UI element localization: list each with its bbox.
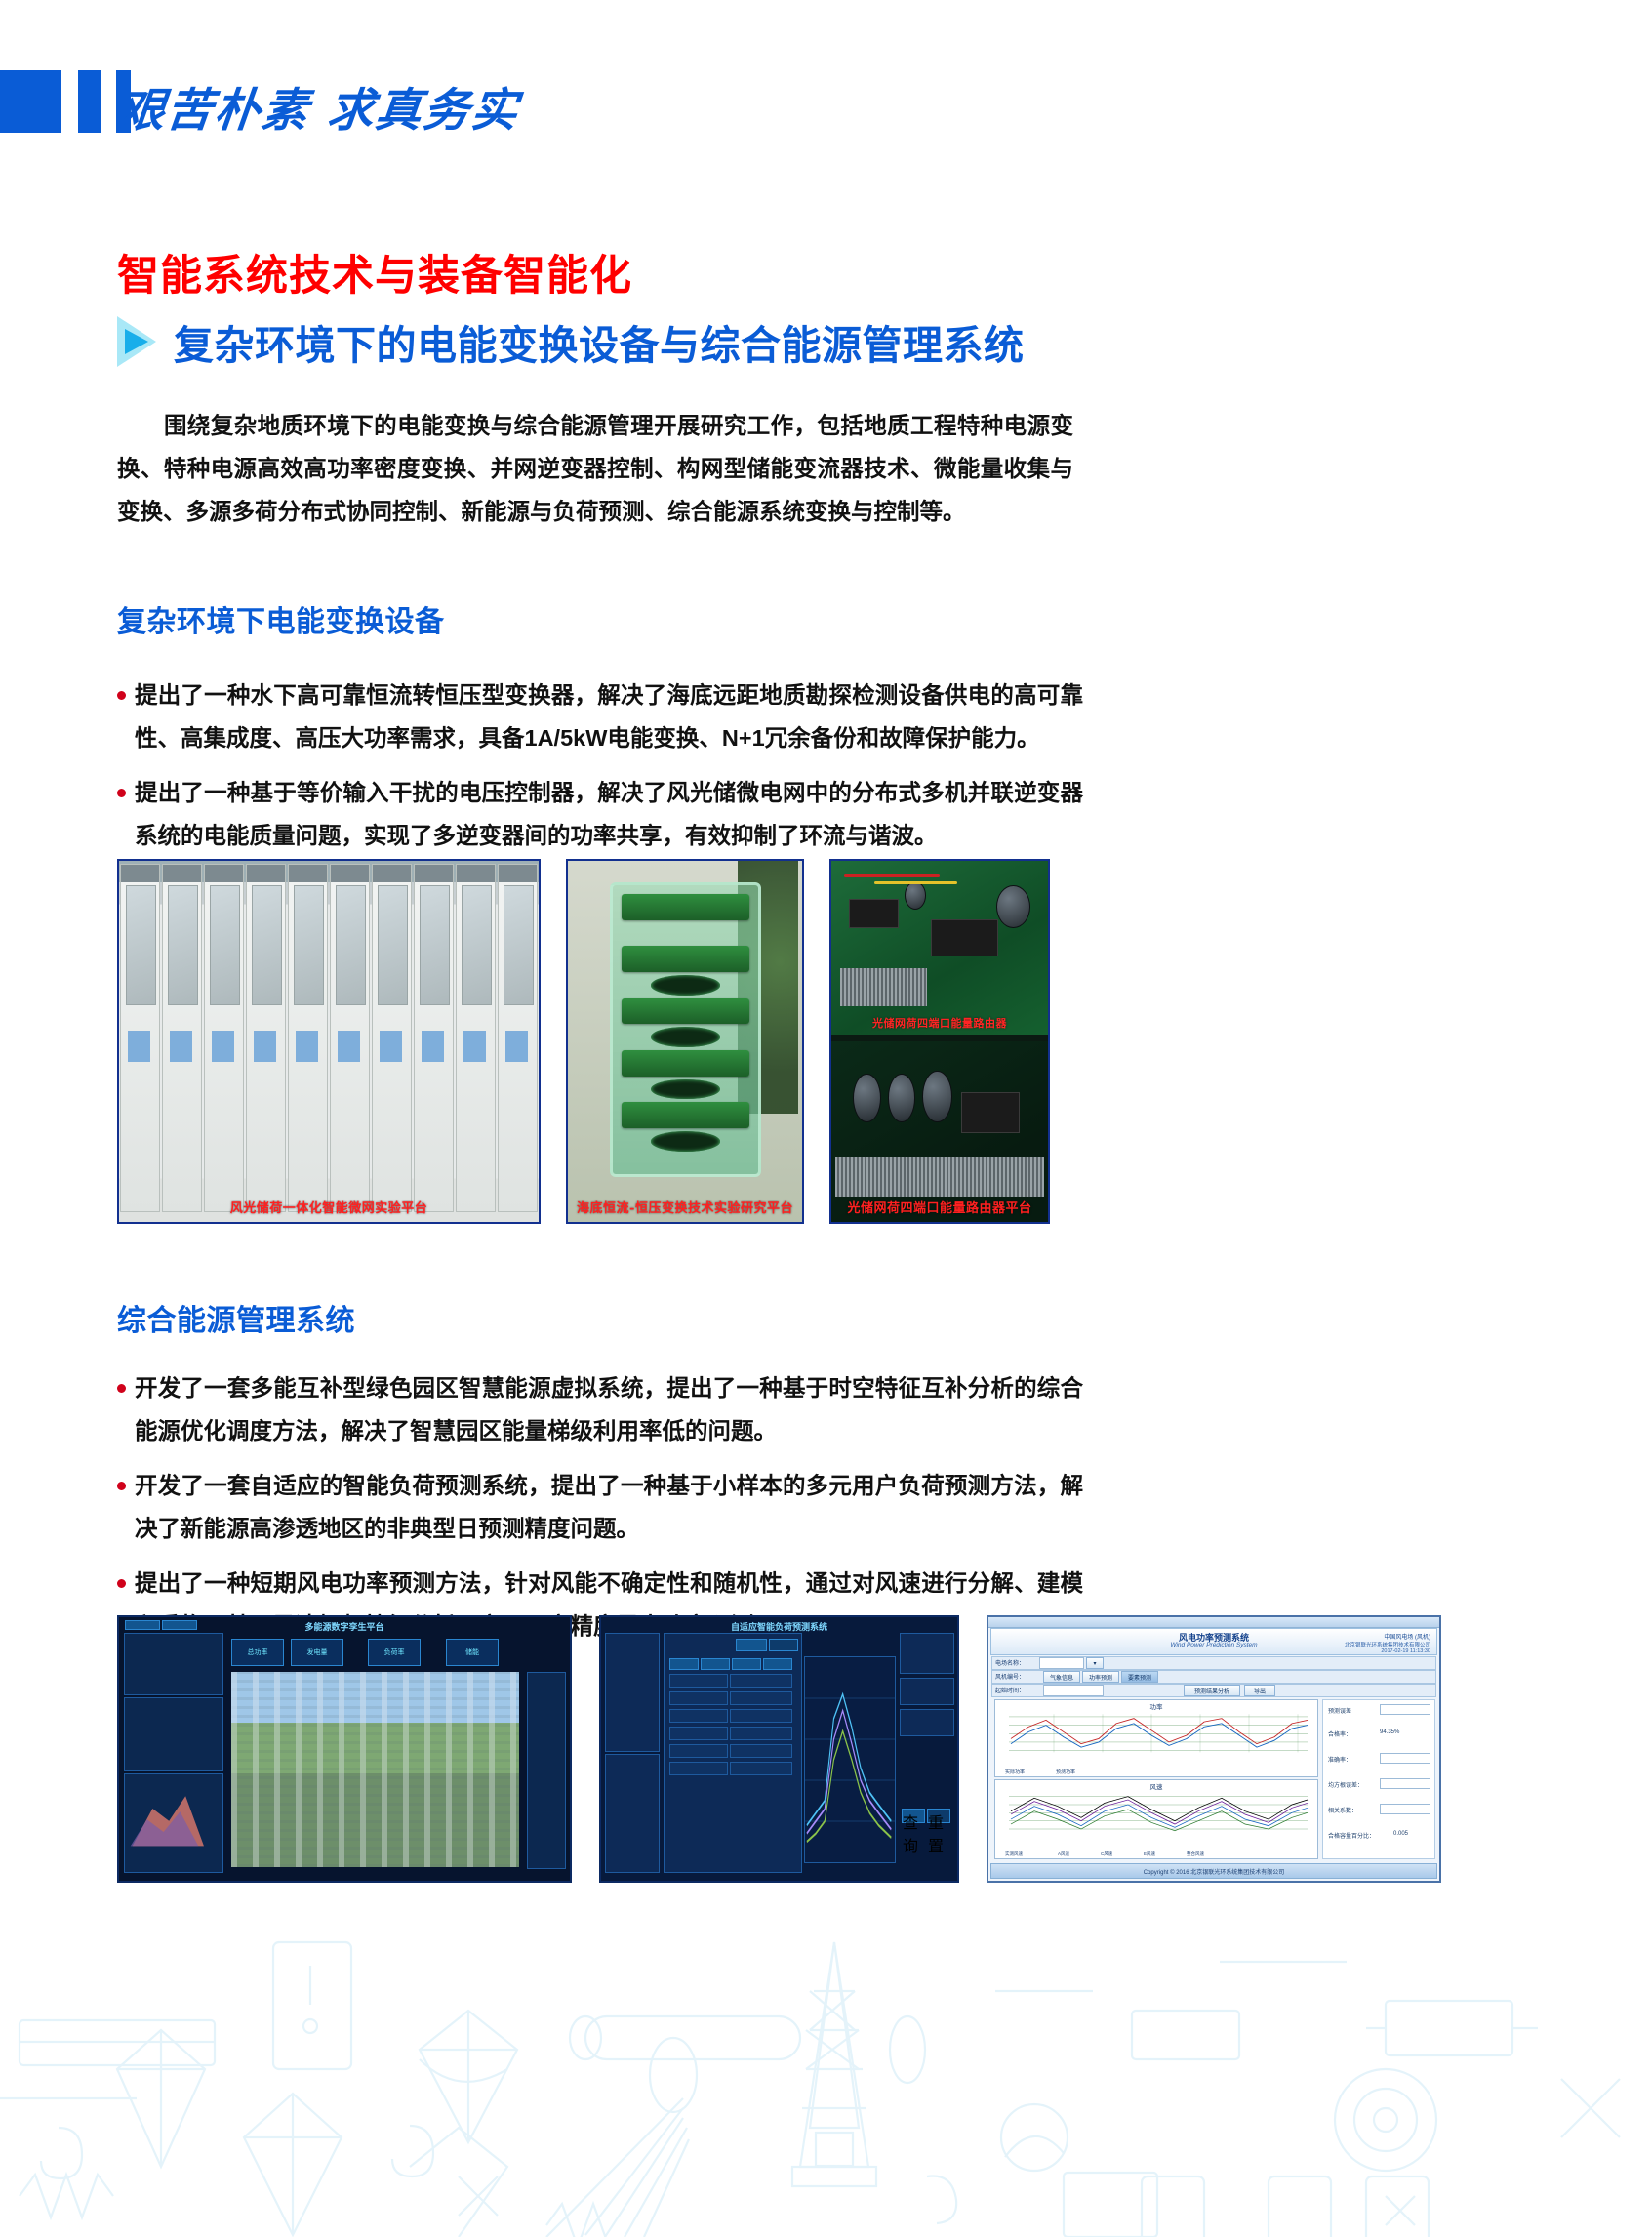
- wind-legend-measured: 实测风速: [1005, 1851, 1023, 1857]
- play-triangle-icon: [117, 316, 160, 367]
- load-forecast-dashboard: 自适应智能负荷预测系统: [601, 1617, 957, 1881]
- photo-caption: 海底恒流-恒压变换技术实验研究平台: [568, 1198, 802, 1216]
- tab-power[interactable]: 功率预测: [1082, 1671, 1119, 1683]
- cabinet-photo-content: [119, 861, 539, 1222]
- window-banner: 风电功率预测系统 Wind Power Prediction System 中国…: [990, 1628, 1437, 1655]
- pcb-photo-bottom: [831, 1041, 1048, 1222]
- location-label: 中国风电场 (风机): [1384, 1632, 1430, 1641]
- metric-value-pass: 94.35%: [1380, 1729, 1399, 1735]
- metric-input-2[interactable]: [1380, 1753, 1430, 1764]
- list-item: 开发了一套自适应的智能负荷预测系统，提出了一种基于小样本的多元用户负荷预测方法，…: [117, 1464, 1083, 1550]
- metric-input-3[interactable]: [1380, 1778, 1430, 1789]
- kpi-card: 储能: [446, 1639, 499, 1666]
- dashboard-title: 自适应智能负荷预测系统: [601, 1620, 957, 1633]
- wind-legend-e: E风速: [1144, 1851, 1155, 1857]
- section-heading-energy-management: 综合能源管理系统: [117, 1296, 355, 1339]
- header-bar-mid: [78, 70, 101, 133]
- metric-label-error: 预测误差: [1328, 1706, 1351, 1715]
- wind-prediction-window: 风电功率预测系统 Wind Power Prediction System 中国…: [988, 1617, 1439, 1881]
- kpi-card: 总功率: [231, 1639, 284, 1666]
- bullet-text: 开发了一套多能互补型绿色园区智慧能源虚拟系统，提出了一种基于时空特征互补分析的综…: [135, 1366, 1083, 1452]
- section-1-bullets: 提出了一种水下高可靠恒流转恒压型变换器，解决了海底远距地质勘探检测设备供电的高可…: [117, 673, 1083, 869]
- metric-label-rmse: 均方根误差：: [1328, 1780, 1363, 1789]
- header-bar-wide: [0, 70, 61, 133]
- mountain-chart: [127, 1785, 219, 1863]
- power-legend-forecast: 预测功率: [1056, 1769, 1075, 1775]
- photo-energy-router-platform: 光储网荷四端口能量路由器 光储网荷四端口能量路由器平台: [829, 859, 1050, 1224]
- photo-row-equipment: 风光储荷一体化智能微网实验平台 海底恒流-恒压变换技术实验研究平台: [117, 859, 1050, 1224]
- metric-label-pass: 合格率：: [1328, 1729, 1351, 1738]
- wind-plot: 风速 实测风速 A风速 C风速 E风速 整合风速: [994, 1779, 1318, 1859]
- screenshot-digital-twin-platform: 多能源数字孪生平台 总功率 发电量 负荷率 储能: [117, 1615, 572, 1883]
- forecast-chart: [804, 1656, 896, 1863]
- export-button[interactable]: 导出: [1244, 1685, 1275, 1696]
- analyze-button[interactable]: 预测结果分析: [1184, 1685, 1240, 1696]
- metric-input-0[interactable]: [1380, 1704, 1430, 1715]
- date-input[interactable]: [1043, 1685, 1104, 1696]
- pcb-photo-top: 光储网荷四端口能量路由器: [831, 861, 1048, 1035]
- pcb-top-caption: 光储网荷四端口能量路由器: [831, 1015, 1048, 1031]
- wind-legend-a: A风速: [1058, 1851, 1069, 1857]
- subtitle-row: 复杂环境下的电能变换设备与综合能源管理系统: [117, 312, 1025, 371]
- farm-dropdown-icon[interactable]: ▾: [1086, 1657, 1104, 1669]
- bullet-text: 提出了一种基于等价输入干扰的电压控制器，解决了风光储微电网中的分布式多机并联逆变…: [135, 771, 1083, 857]
- photo-row-software: 多能源数字孪生平台 总功率 发电量 负荷率 储能 自适应智能负荷预测系统: [117, 1615, 1441, 1883]
- power-plot: 功率 实际功率 预测功率: [994, 1699, 1318, 1777]
- bullet-dot-icon: [117, 1579, 126, 1588]
- background-watermark-illustration: [0, 1932, 1652, 2237]
- tab-chip[interactable]: [736, 1639, 767, 1651]
- bullet-dot-icon: [117, 1384, 126, 1393]
- window-titlebar[interactable]: [988, 1617, 1439, 1628]
- bullet-text: 开发了一套自适应的智能负荷预测系统，提出了一种基于小样本的多元用户负荷预测方法，…: [135, 1464, 1083, 1550]
- timestamp-label: 2017-02-19 11:13:30: [1381, 1648, 1430, 1654]
- metrics-panel: 预测误差 合格率： 94.35% 准确率： 均方根误差： 相关系数： 合格容量百…: [1322, 1699, 1435, 1859]
- aerial-city-photo: [231, 1672, 519, 1867]
- metric-input-4[interactable]: [1380, 1804, 1430, 1814]
- header-motto: 艰苦朴素 求真务实: [115, 72, 523, 140]
- photo-subsea-converter-platform: 海底恒流-恒压变换技术实验研究平台: [566, 859, 804, 1224]
- kpi-card: 发电量: [291, 1639, 343, 1666]
- list-item: 提出了一种水下高可靠恒流转恒压型变换器，解决了海底远距地质勘探检测设备供电的高可…: [117, 673, 1083, 759]
- metric-label-accuracy: 准确率：: [1328, 1755, 1351, 1764]
- list-item: 提出了一种基于等价输入干扰的电压控制器，解决了风光储微电网中的分布式多机并联逆变…: [117, 771, 1083, 857]
- reset-button[interactable]: 重置: [927, 1809, 950, 1823]
- query-button[interactable]: 查询: [902, 1809, 925, 1823]
- subsea-photo-content: [568, 861, 802, 1222]
- page-subtitle-blue: 复杂环境下的电能变换设备与综合能源管理系统: [174, 312, 1025, 371]
- bullet-dot-icon: [117, 691, 126, 700]
- screenshot-load-forecast-system: 自适应智能负荷预测系统: [599, 1615, 959, 1883]
- field-label-turbine: 风机编号：: [995, 1672, 1025, 1681]
- field-label-farm: 电场名称：: [995, 1658, 1025, 1667]
- wind-legend-integrated: 整合风速: [1187, 1851, 1204, 1857]
- station-label: 北京银联光环系统集团技术有限公司: [1345, 1641, 1430, 1648]
- wind-legend-c: C风速: [1101, 1851, 1112, 1857]
- metric-label-corr: 相关系数：: [1328, 1806, 1357, 1814]
- list-item: 开发了一套多能互补型绿色园区智慧能源虚拟系统，提出了一种基于时空特征互补分析的综…: [117, 1366, 1083, 1452]
- photo-caption: 光储网荷四端口能量路由器平台: [831, 1198, 1048, 1216]
- page-title-red: 智能系统技术与装备智能化: [117, 242, 632, 303]
- section-heading-power-conversion: 复杂环境下电能变换设备: [117, 597, 445, 640]
- field-label-date: 起始时间：: [995, 1686, 1025, 1694]
- metric-value-capacity: 0.005: [1393, 1831, 1408, 1837]
- digital-twin-dashboard: 多能源数字孪生平台 总功率 发电量 负荷率 储能: [119, 1617, 570, 1881]
- metric-label-capacity: 合格容量百分比：: [1328, 1831, 1375, 1840]
- kpi-card: 负荷率: [368, 1639, 421, 1666]
- intro-paragraph: 围绕复杂地质环境下的电能变换与综合能源管理开展研究工作，包括地质工程特种电源变换…: [117, 404, 1073, 533]
- window-footer: Copyright © 2016 北京银联光环系统集团技术有限公司: [990, 1863, 1437, 1879]
- tab-elements[interactable]: 要素预测: [1121, 1671, 1158, 1683]
- bullet-dot-icon: [117, 789, 126, 797]
- left-menu-panel-2[interactable]: [605, 1754, 660, 1873]
- bullet-text: 提出了一种水下高可靠恒流转恒压型变换器，解决了海底远距地质勘探检测设备供电的高可…: [135, 673, 1083, 759]
- left-menu-panel[interactable]: [605, 1633, 660, 1752]
- farm-select[interactable]: [1039, 1657, 1084, 1669]
- screenshot-wind-power-prediction-system: 风电功率预测系统 Wind Power Prediction System 中国…: [987, 1615, 1441, 1883]
- bullet-dot-icon: [117, 1482, 126, 1490]
- tab-chip-2[interactable]: [769, 1639, 798, 1651]
- header-bar-decoration: [0, 70, 131, 133]
- page-header: 艰苦朴素 求真务实: [0, 70, 683, 168]
- power-legend-actual: 实际功率: [1005, 1769, 1025, 1775]
- photo-caption: 风光储荷一体化智能微网实验平台: [119, 1198, 539, 1216]
- tab-weather[interactable]: 气象信息: [1043, 1671, 1080, 1683]
- photo-microgrid-platform: 风光储荷一体化智能微网实验平台: [117, 859, 541, 1224]
